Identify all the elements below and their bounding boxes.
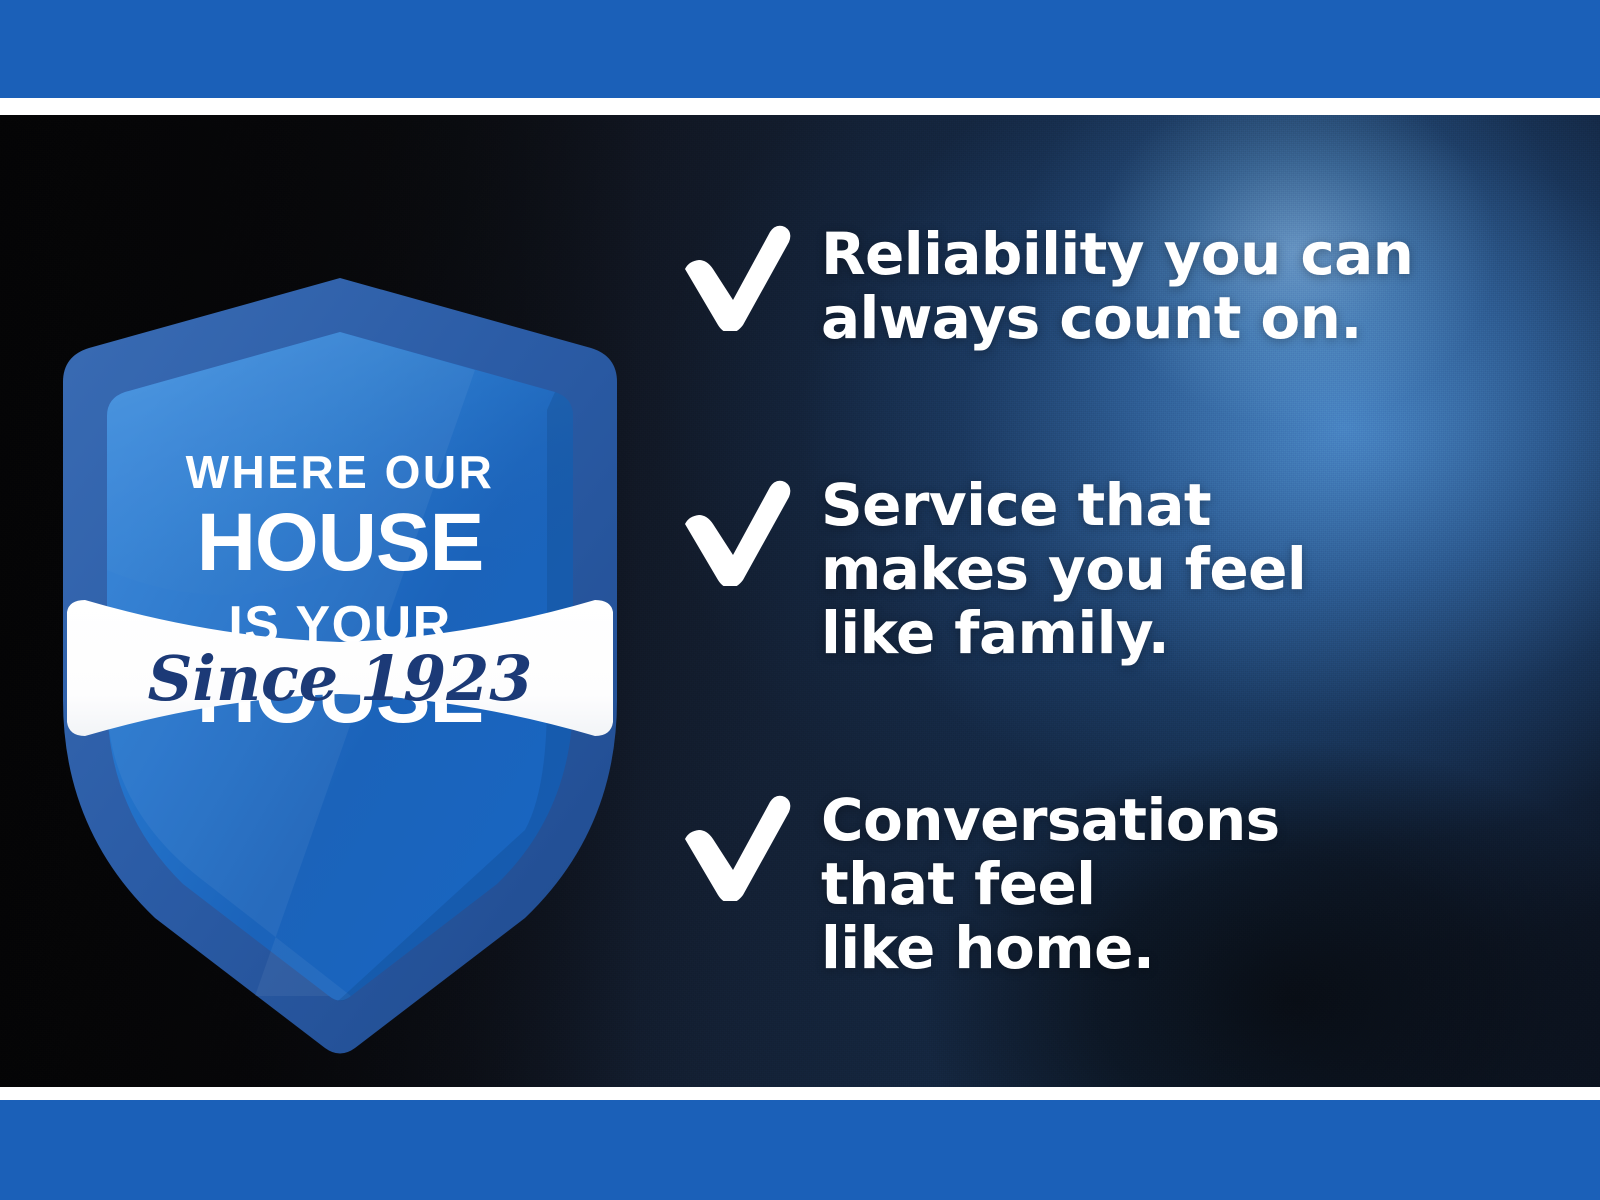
bottom-brand-band bbox=[0, 1100, 1600, 1200]
shield-line-1: WHERE OUR bbox=[186, 446, 495, 498]
benefit-text: Service that makes you feel like family. bbox=[821, 470, 1306, 665]
top-divider-gap bbox=[0, 98, 1600, 115]
shield-line-2: HOUSE bbox=[197, 497, 484, 588]
check-icon bbox=[675, 791, 795, 901]
benefit-item-reliability: Reliability you can always count on. bbox=[675, 215, 1413, 351]
bottom-divider-gap bbox=[0, 1087, 1600, 1100]
check-icon bbox=[675, 221, 795, 331]
shield-badge: WHERE OUR HOUSE IS YOUR HOUSE Since 1923 bbox=[55, 270, 625, 1060]
benefits-list: Reliability you can always count on. Ser… bbox=[665, 115, 1495, 1087]
benefit-text: Conversations that feel like home. bbox=[821, 785, 1280, 980]
ribbon-since-text: Since 1923 bbox=[148, 642, 533, 715]
main-stage: WHERE OUR HOUSE IS YOUR HOUSE Since 1923 bbox=[0, 115, 1600, 1087]
benefit-text: Reliability you can always count on. bbox=[821, 215, 1413, 351]
benefit-item-service: Service that makes you feel like family. bbox=[675, 470, 1306, 665]
top-brand-band bbox=[0, 0, 1600, 98]
benefit-item-conversations: Conversations that feel like home. bbox=[675, 785, 1280, 980]
check-icon bbox=[675, 476, 795, 586]
promo-graphic: WHERE OUR HOUSE IS YOUR HOUSE Since 1923 bbox=[0, 0, 1600, 1200]
